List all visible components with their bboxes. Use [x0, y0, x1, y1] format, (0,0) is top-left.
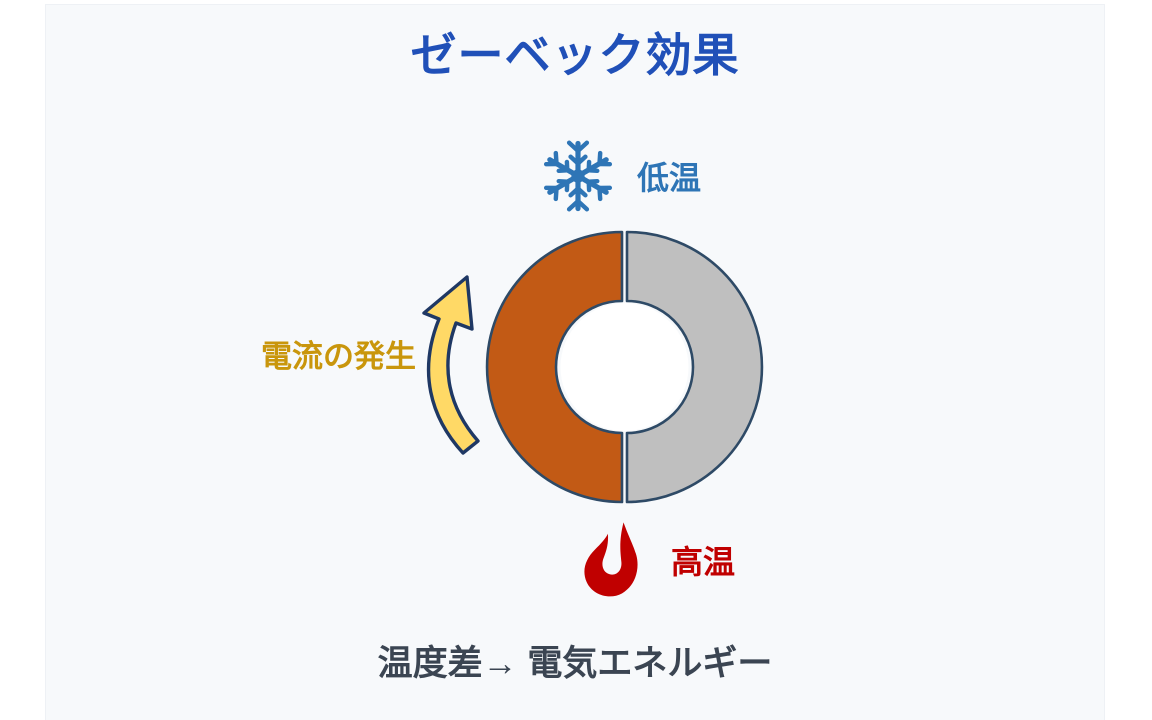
summary-caption: 温度差→ 電気エネルギー	[46, 635, 1104, 686]
current-generation-label: 電流の発生	[166, 331, 416, 376]
hot-side-group: 高温	[551, 519, 811, 601]
slide-canvas: ゼーベック効果	[0, 0, 1152, 720]
cold-side-group: 低温	[541, 137, 801, 215]
cold-temperature-label: 低温	[637, 153, 701, 199]
curved-up-arrow-icon	[424, 277, 478, 453]
page-title: ゼーベック効果	[46, 30, 1104, 81]
ring-inner-hole	[561, 303, 689, 431]
current-flow-arrow	[406, 267, 496, 457]
snowflake-icon	[541, 139, 615, 213]
hot-temperature-label: 高温	[671, 537, 735, 583]
thermoelectric-ring	[484, 227, 764, 507]
slide-surface: ゼーベック効果	[45, 4, 1105, 720]
flame-icon	[579, 521, 651, 599]
